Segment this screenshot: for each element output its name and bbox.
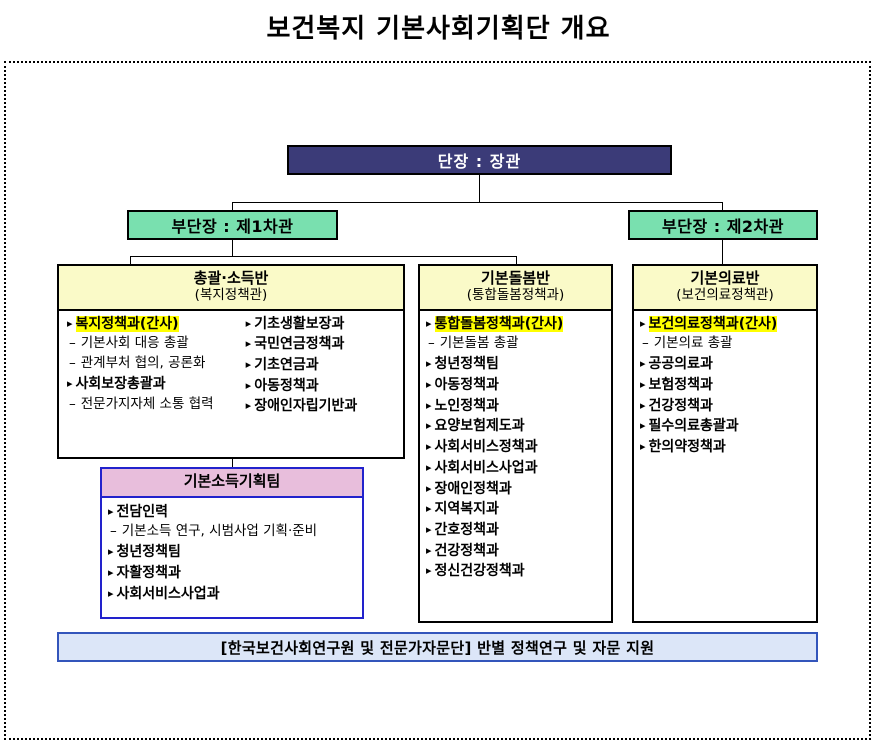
list-item-label: 공공의료과	[649, 356, 713, 372]
list-item-label: 지역복지과	[435, 501, 499, 517]
page-title: 보건복지 기본사회기획단 개요	[0, 8, 877, 45]
list-item-label: 청년정책팀	[117, 544, 181, 560]
list-item-label: 간호정책과	[435, 522, 499, 538]
list-item-department: 건강정책과	[426, 541, 607, 562]
connector-vice-horizontal	[232, 202, 723, 203]
panel-care-title: 기본돌봄반	[420, 270, 611, 288]
list-item-label: 통합돌봄정책과(간사)	[435, 316, 564, 332]
list-item-label: 보험정책과	[649, 377, 713, 393]
list-item-label: 사회서비스정책과	[435, 439, 538, 455]
list-item-label: 정신건강정책과	[435, 563, 525, 579]
list-item-department: 통합돌봄정책과(간사)	[426, 314, 607, 335]
support-bar-label: [한국보건사회연구원 및 전문가자문단] 반별 정책연구 및 자문 지원	[221, 637, 655, 658]
list-item-label: 건강정책과	[435, 543, 499, 559]
list-item-department: 요양보험제도과	[426, 416, 607, 437]
list-item-department: 보험정책과	[640, 375, 812, 396]
panel-care-header: 기본돌봄반 (통합돌봄정책과)	[420, 266, 611, 311]
list-item-department: 사회보장총괄과	[67, 374, 236, 395]
panel-general-right-column: 기초생활보장과국민연금정책과기초연금과아동정책과장애인자립기반과	[236, 314, 399, 418]
list-item-department: 지역복지과	[426, 499, 607, 520]
list-item-label: 필수의료총괄과	[649, 418, 739, 434]
panel-general-header: 총괄·소득반 (복지정책관)	[59, 266, 403, 311]
list-item-department: 필수의료총괄과	[640, 416, 812, 437]
list-item-department: 복지정책과(간사)	[67, 314, 236, 335]
panel-general-body: 복지정책과(간사)기본사회 대응 총괄관계부처 협의, 공론화사회보장총괄과전문…	[59, 311, 403, 422]
list-item-department: 간호정책과	[426, 520, 607, 541]
list-item-label: 사회보장총괄과	[76, 376, 166, 392]
list-item-label: 장애인정책과	[435, 481, 512, 497]
list-item-label: 사회서비스사업과	[117, 586, 220, 602]
panel-basic-care[interactable]: 기본돌봄반 (통합돌봄정책과) 통합돌봄정책과(간사)기본돌봄 총괄청년정책팀아…	[418, 264, 613, 623]
list-item-label: 사회서비스사업과	[435, 460, 538, 476]
support-bar[interactable]: [한국보건사회연구원 및 전문가자문단] 반별 정책연구 및 자문 지원	[57, 632, 818, 662]
panel-medical-body: 보건의료정책과(간사)기본의료 총괄공공의료과보험정책과건강정책과필수의료총괄과…	[634, 311, 816, 462]
panel-income-body: 전담인력기본소득 연구, 시범사업 기획·준비청년정책팀자활정책과사회서비스사업…	[102, 498, 362, 609]
list-item-department: 장애인자립기반과	[246, 396, 399, 417]
connector-panel12-horizontal	[130, 256, 516, 257]
list-item-department: 공공의료과	[640, 354, 812, 375]
panel-general-income[interactable]: 총괄·소득반 (복지정책관) 복지정책과(간사)기본사회 대응 총괄관계부처 협…	[57, 264, 405, 459]
list-item-label: 자활정책과	[117, 565, 181, 581]
list-item-label: 기본소득 연구, 시범사업 기획·준비	[122, 523, 317, 539]
panel-care-body: 통합돌봄정책과(간사)기본돌봄 총괄청년정책팀아동정책과노인정책과요양보험제도과…	[420, 311, 611, 587]
list-item-department: 건강정책과	[640, 396, 812, 417]
list-item-department: 기초연금과	[246, 355, 399, 376]
panel-income-header: 기본소득기획팀	[102, 469, 362, 498]
list-item-department: 청년정책팀	[426, 354, 607, 375]
connector-vice1-down	[232, 240, 233, 256]
list-item-department: 한의약정책과	[640, 437, 812, 458]
list-item-label: 전문가지자체 소통 협력	[81, 396, 214, 412]
list-item-department: 청년정책팀	[108, 542, 358, 563]
list-item-label: 기본돌봄 총괄	[440, 335, 519, 351]
panel-medical-title: 기본의료반	[634, 270, 816, 288]
list-item-label: 국민연금정책과	[254, 336, 344, 352]
vice-head-2-label: 부단장 : 제2차관	[662, 213, 784, 237]
panel-general-subtitle: (복지정책관)	[59, 288, 403, 304]
panel-income-title: 기본소득기획팀	[102, 473, 362, 491]
list-item-label: 관계부처 협의, 공론화	[81, 355, 206, 371]
list-item-label: 기초연금과	[254, 357, 318, 373]
list-item-department: 전담인력	[108, 502, 358, 523]
list-item-label: 한의약정책과	[649, 439, 726, 455]
list-item-label: 요양보험제도과	[435, 418, 525, 434]
list-item-label: 청년정책팀	[435, 356, 499, 372]
list-item-label: 아동정책과	[435, 377, 499, 393]
list-item-department: 보건의료정책과(간사)	[640, 314, 812, 335]
list-item-department: 사회서비스사업과	[426, 458, 607, 479]
panel-basic-medical[interactable]: 기본의료반 (보건의료정책관) 보건의료정책과(간사)기본의료 총괄공공의료과보…	[632, 264, 818, 623]
list-item-label: 장애인자립기반과	[254, 398, 357, 414]
list-item-department: 사회서비스정책과	[426, 437, 607, 458]
connector-head-down	[479, 175, 480, 202]
vice-head-box-2[interactable]: 부단장 : 제2차관	[628, 210, 818, 240]
list-item-label: 보건의료정책과(간사)	[649, 316, 778, 332]
head-box[interactable]: 단장 : 장관	[287, 145, 672, 175]
list-item-department: 아동정책과	[426, 375, 607, 396]
list-item-detail: 기본사회 대응 총괄	[67, 334, 236, 354]
list-item-detail: 기본소득 연구, 시범사업 기획·준비	[108, 522, 358, 542]
panel-care-subtitle: (통합돌봄정책과)	[420, 288, 611, 304]
panel-general-title: 총괄·소득반	[59, 270, 403, 288]
list-item-department: 정신건강정책과	[426, 561, 607, 582]
panel-medical-subtitle: (보건의료정책관)	[634, 288, 816, 304]
list-item-label: 복지정책과(간사)	[76, 316, 179, 332]
vice-head-1-label: 부단장 : 제1차관	[172, 213, 294, 237]
list-item-department: 사회서비스사업과	[108, 584, 358, 605]
list-item-department: 장애인정책과	[426, 479, 607, 500]
list-item-label: 전담인력	[117, 504, 169, 520]
list-item-label: 건강정책과	[649, 398, 713, 414]
vice-head-box-1[interactable]: 부단장 : 제1차관	[127, 210, 338, 240]
list-item-detail: 기본돌봄 총괄	[426, 334, 607, 354]
panel-medical-header: 기본의료반 (보건의료정책관)	[634, 266, 816, 311]
list-item-label: 기본사회 대응 총괄	[81, 335, 189, 351]
list-item-detail: 전문가지자체 소통 협력	[67, 395, 236, 415]
list-item-label: 아동정책과	[254, 378, 318, 394]
list-item-label: 기초생활보장과	[254, 316, 344, 332]
list-item-label: 노인정책과	[435, 398, 499, 414]
list-item-detail: 기본의료 총괄	[640, 334, 812, 354]
list-item-department: 기초생활보장과	[246, 314, 399, 335]
list-item-department: 아동정책과	[246, 376, 399, 397]
list-item-department: 자활정책과	[108, 563, 358, 584]
list-item-department: 국민연금정책과	[246, 334, 399, 355]
connector-vice2-down	[722, 240, 723, 265]
head-box-label: 단장 : 장관	[438, 148, 521, 172]
panel-general-left-column: 복지정책과(간사)기본사회 대응 총괄관계부처 협의, 공론화사회보장총괄과전문…	[63, 314, 236, 418]
panel-basic-income-team[interactable]: 기본소득기획팀 전담인력기본소득 연구, 시범사업 기획·준비청년정책팀자활정책…	[100, 467, 364, 619]
list-item-department: 노인정책과	[426, 396, 607, 417]
list-item-detail: 관계부처 협의, 공론화	[67, 354, 236, 374]
list-item-label: 기본의료 총괄	[654, 335, 733, 351]
